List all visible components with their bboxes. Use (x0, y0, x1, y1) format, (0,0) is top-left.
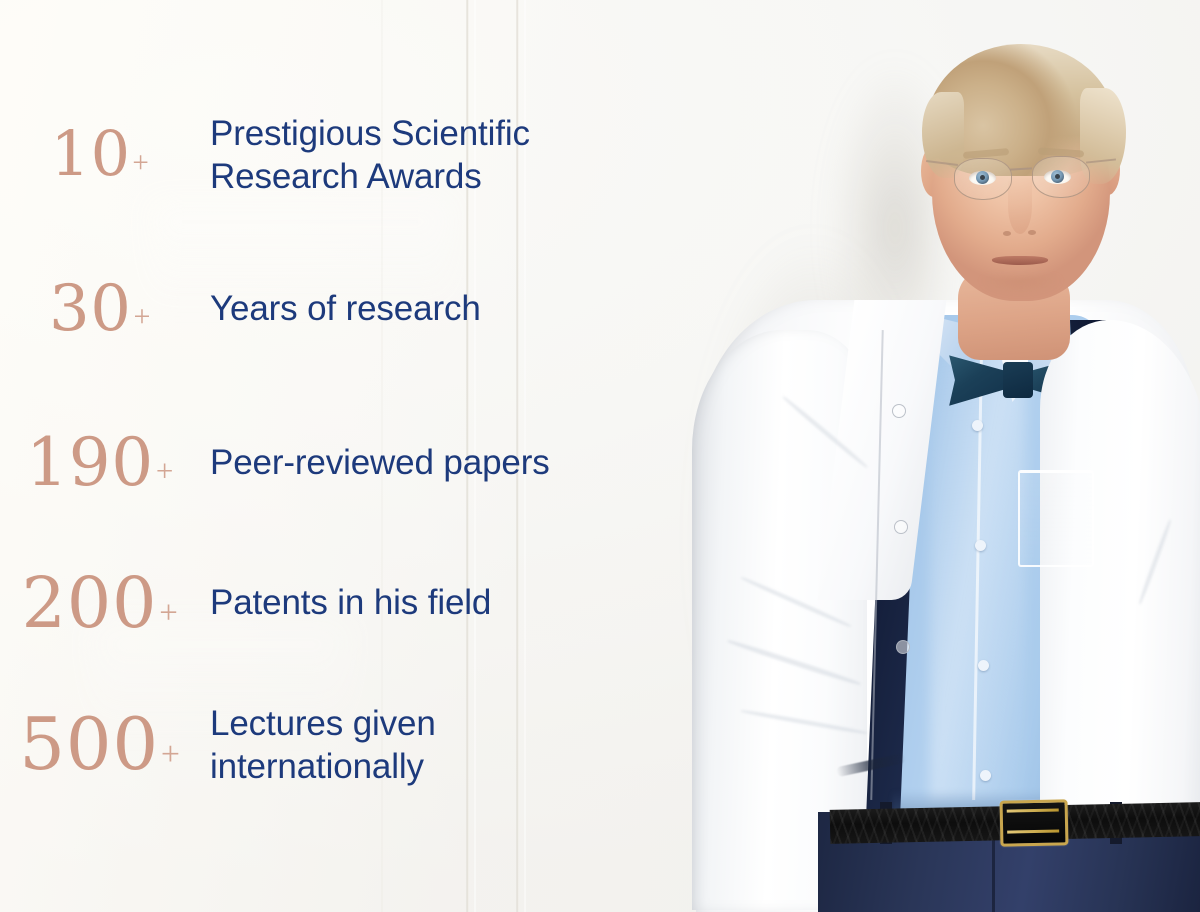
belt-buckle-bar (1007, 829, 1059, 833)
nostril-right (1028, 230, 1036, 235)
stat-number-suffix: + (132, 147, 149, 179)
stat-row: 190+ Peer-reviewed papers (0, 430, 700, 496)
statistics-list: 10+ Prestigious Scientific Research Awar… (0, 0, 740, 912)
stat-row: 500+ Lectures given internationally (0, 700, 700, 789)
belt-buckle-bar (1007, 808, 1059, 812)
shirt-button (972, 420, 983, 431)
stat-label: Years of research (200, 287, 481, 330)
lab-coat-snap-button (894, 520, 908, 534)
nostril-left (1003, 231, 1011, 236)
lab-coat-snap-button (896, 640, 910, 654)
lab-coat-chest-pocket (1018, 470, 1094, 567)
shirt-button (975, 540, 986, 551)
lab-coat-snap-button (892, 404, 906, 418)
stat-number: 500+ (0, 708, 200, 780)
stat-number-suffix: + (133, 299, 151, 333)
belt-buckle (1000, 799, 1069, 846)
stat-number: 10+ (0, 123, 200, 185)
stat-label: Patents in his field (200, 581, 491, 624)
stat-number: 30+ (0, 277, 200, 341)
stat-number: 200+ (0, 568, 200, 638)
shirt-button (980, 770, 991, 781)
stats-portrait-banner: 10+ Prestigious Scientific Research Awar… (0, 0, 1200, 912)
stat-row: 10+ Prestigious Scientific Research Awar… (0, 110, 700, 199)
stat-number-suffix: + (159, 595, 178, 631)
stat-label: Prestigious Scientific Research Awards (200, 112, 530, 199)
stat-label: Peer-reviewed papers (200, 441, 550, 484)
bow-tie-left-wing (948, 352, 1006, 408)
eyeglasses-right-lens (1032, 156, 1090, 198)
stat-number-value: 10 (51, 117, 131, 190)
stat-number: 190+ (0, 430, 200, 496)
chin-shadow (980, 276, 1062, 300)
stat-number-value: 500 (19, 702, 159, 786)
stat-number-suffix: + (161, 736, 181, 773)
stat-number-value: 200 (22, 562, 158, 644)
stat-number-value: 190 (26, 424, 154, 501)
stat-label: Lectures given internationally (200, 702, 436, 789)
stat-number-suffix: + (156, 453, 174, 488)
mouth (992, 256, 1048, 265)
eyeglasses-left-lens (954, 158, 1012, 200)
shirt-button (978, 660, 989, 671)
figure (640, 0, 1200, 912)
trouser-seam (992, 840, 995, 912)
stat-row: 30+ Years of research (0, 277, 700, 341)
portrait-photo (640, 0, 1200, 912)
bow-tie-knot (1003, 362, 1033, 398)
stat-number-value: 30 (49, 272, 132, 346)
stat-row: 200+ Patents in his field (0, 568, 700, 638)
nose (1008, 178, 1032, 234)
